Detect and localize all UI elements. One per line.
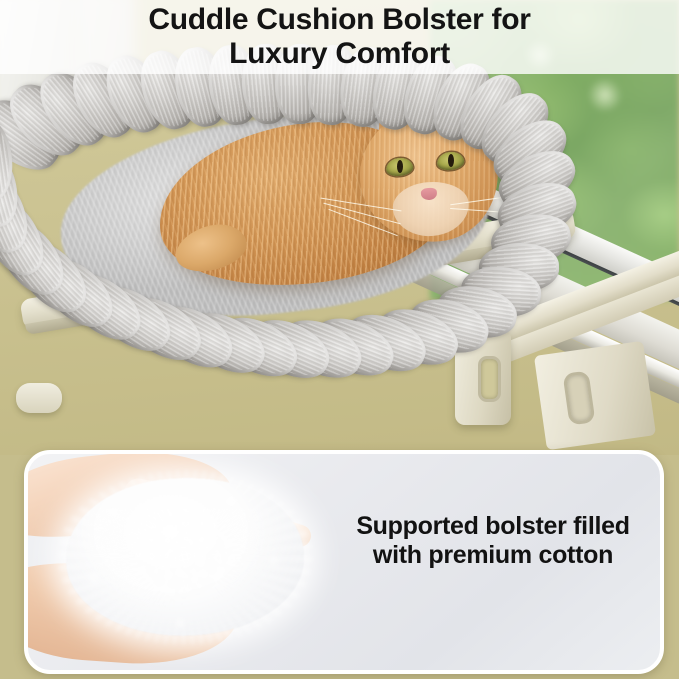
feature-caption-line-1: Supported bolster filled [328,512,658,541]
cotton-fill-photo [28,454,338,662]
headline-line-1: Cuddle Cushion Bolster for [148,3,530,37]
hero-product-photo: Cuddle Cushion Bolster for Luxury Comfor… [0,0,679,455]
feature-callout-card: Supported bolster filled with premium co… [24,450,664,674]
headline-line-2: Luxury Comfort [229,37,450,71]
cotton-fuzz-texture [58,470,312,644]
product-advertisement: Cuddle Cushion Bolster for Luxury Comfor… [0,0,679,679]
feature-caption-line-2: with premium cotton [328,541,658,570]
bolster-segments-group [0,60,600,400]
feature-caption: Supported bolster filled with premium co… [328,512,658,570]
headline-banner: Cuddle Cushion Bolster for Luxury Comfor… [0,0,679,74]
